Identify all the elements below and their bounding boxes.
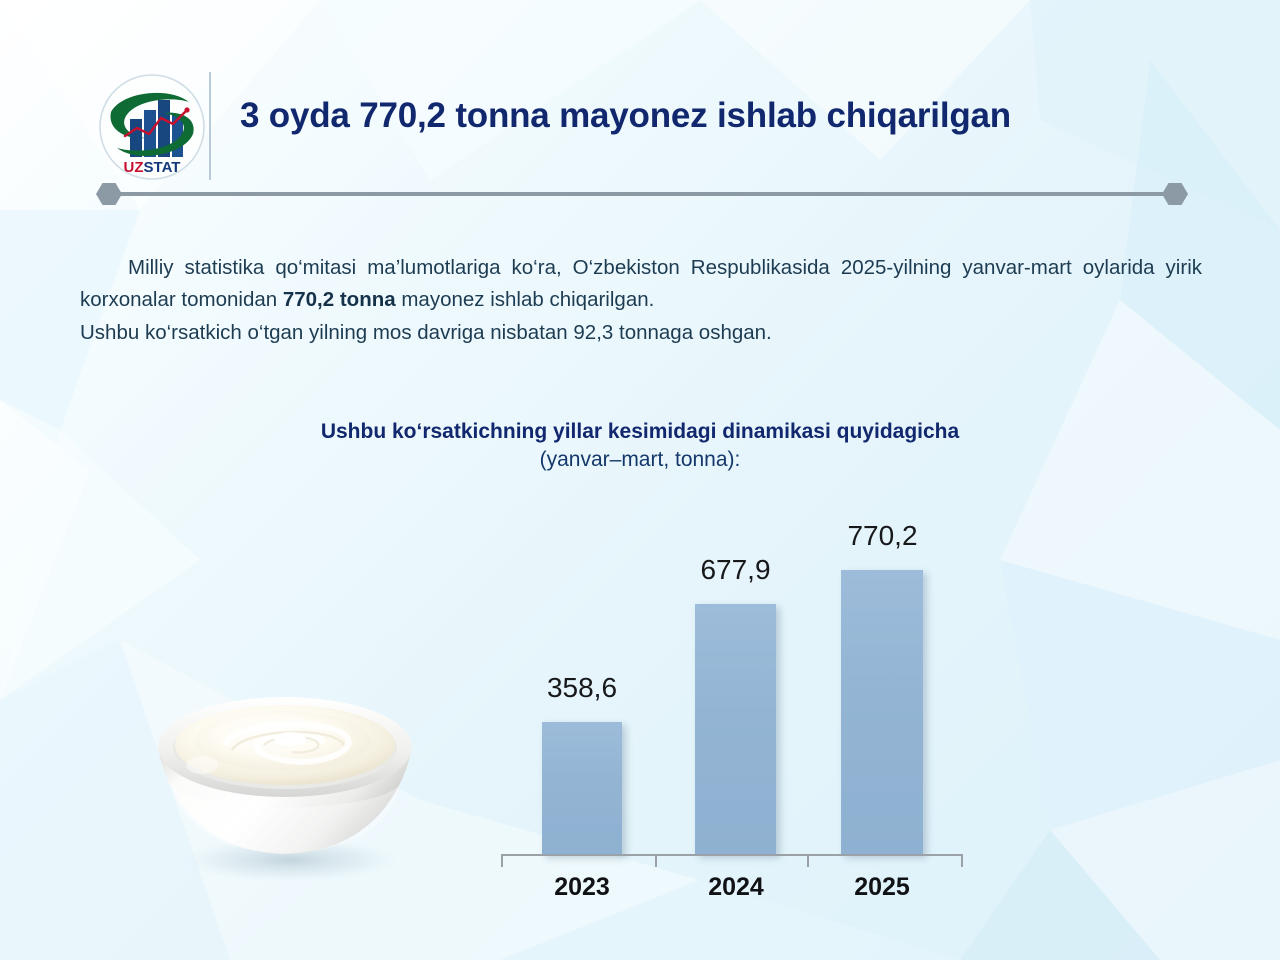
header-rule <box>96 183 1188 205</box>
mayonnaise-bowl-illustration <box>140 655 430 885</box>
chart-x-axis <box>495 854 970 868</box>
category-label-2023: 2023 <box>522 873 642 902</box>
bar-2024 <box>695 604 776 855</box>
rule-hexagon-right <box>1162 183 1188 205</box>
bar-chart: 358,6 677,9 770,2 2023 2024 2025 <box>495 505 970 910</box>
bar-2025 <box>841 570 923 855</box>
chart-caption-line-2: (yanvar–mart, tonna): <box>140 446 1140 474</box>
uzstat-logo: UZSTAT <box>97 72 207 182</box>
axis-tick-2 <box>807 854 809 867</box>
axis-tick-start <box>501 854 503 867</box>
paragraph-line-2: Ushbu ko‘rsatkich o‘tgan yilning mos dav… <box>80 317 1202 349</box>
rule-line <box>110 192 1174 196</box>
category-label-2024: 2024 <box>676 873 796 902</box>
bar-value-2024: 677,9 <box>685 554 786 586</box>
uzstat-logo-icon: UZSTAT <box>97 72 207 182</box>
infographic-canvas: UZSTAT 3 oyda 770,2 tonna mayonez ishlab… <box>0 0 1280 960</box>
axis-tick-1 <box>655 854 657 867</box>
page-title: 3 oyda 770,2 tonna mayonez ishlab chiqar… <box>240 96 1200 136</box>
chart-plot-area: 358,6 677,9 770,2 <box>495 505 970 855</box>
header-divider <box>209 72 211 180</box>
svg-text:UZSTAT: UZSTAT <box>124 159 181 176</box>
chart-caption-line-1: Ushbu ko‘rsatkichning yillar kesimidagi … <box>140 418 1140 446</box>
chart-caption: Ushbu ko‘rsatkichning yillar kesimidagi … <box>140 418 1140 473</box>
category-label-2025: 2025 <box>822 873 942 902</box>
axis-tick-end <box>961 854 963 867</box>
paragraph-highlight: 770,2 tonna <box>283 288 396 311</box>
bar-value-2025: 770,2 <box>832 520 933 552</box>
paragraph-text-post: mayonez ishlab chiqarilgan. <box>396 288 655 311</box>
chart-category-labels: 2023 2024 2025 <box>495 873 970 913</box>
axis-line <box>501 854 963 856</box>
bar-value-2023: 358,6 <box>532 672 632 704</box>
header: UZSTAT 3 oyda 770,2 tonna mayonez ishlab… <box>0 0 1280 190</box>
bowl-icon <box>140 655 430 885</box>
bar-2023 <box>542 722 622 855</box>
body-paragraph: Milliy statistika qo‘mitasi ma’lumotlari… <box>80 252 1202 349</box>
